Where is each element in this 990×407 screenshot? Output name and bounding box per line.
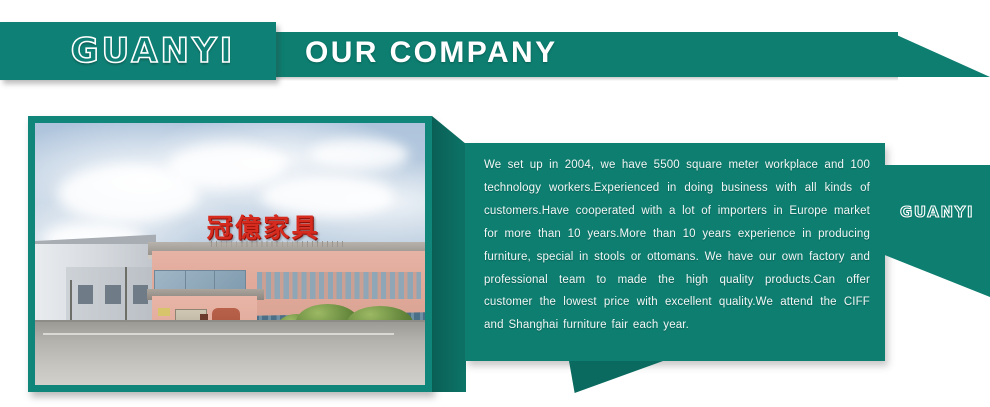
rooftop-sign-char-3: 家 [263,216,289,242]
rooftop-sign-char-2: 億 [235,216,261,242]
photo-window [105,285,121,303]
rooftop-sign-char-4: 具 [291,216,317,242]
photo-wall-plate [158,308,170,316]
header-band-taper [890,32,990,77]
photo-road [35,322,425,385]
company-profile-banner: GUANYI OUR COMPANY [0,0,990,407]
photo-cloud [168,144,285,189]
about-paragraph: We set up in 2004, we have 5500 square m… [484,154,870,337]
company-photo: 冠 億 家 具 [35,123,425,385]
side-flag-label: GUANYI [900,203,974,221]
photo-rooftop-sign: 冠 億 家 具 [207,211,311,242]
photo-road-marking [43,333,394,335]
photo-window [78,285,94,303]
about-panel-tail [569,361,663,393]
ribbon-fold [432,116,466,392]
logo-block: GUANYI [0,22,276,80]
photo-window-row [257,272,421,298]
rooftop-sign-char-1: 冠 [207,216,233,242]
page-title: OUR COMPANY [305,36,558,70]
company-photo-frame: 冠 億 家 具 [28,116,432,392]
side-flag [884,165,990,297]
brand-logo-text: GUANYI [41,31,236,71]
photo-cloud [308,139,409,170]
